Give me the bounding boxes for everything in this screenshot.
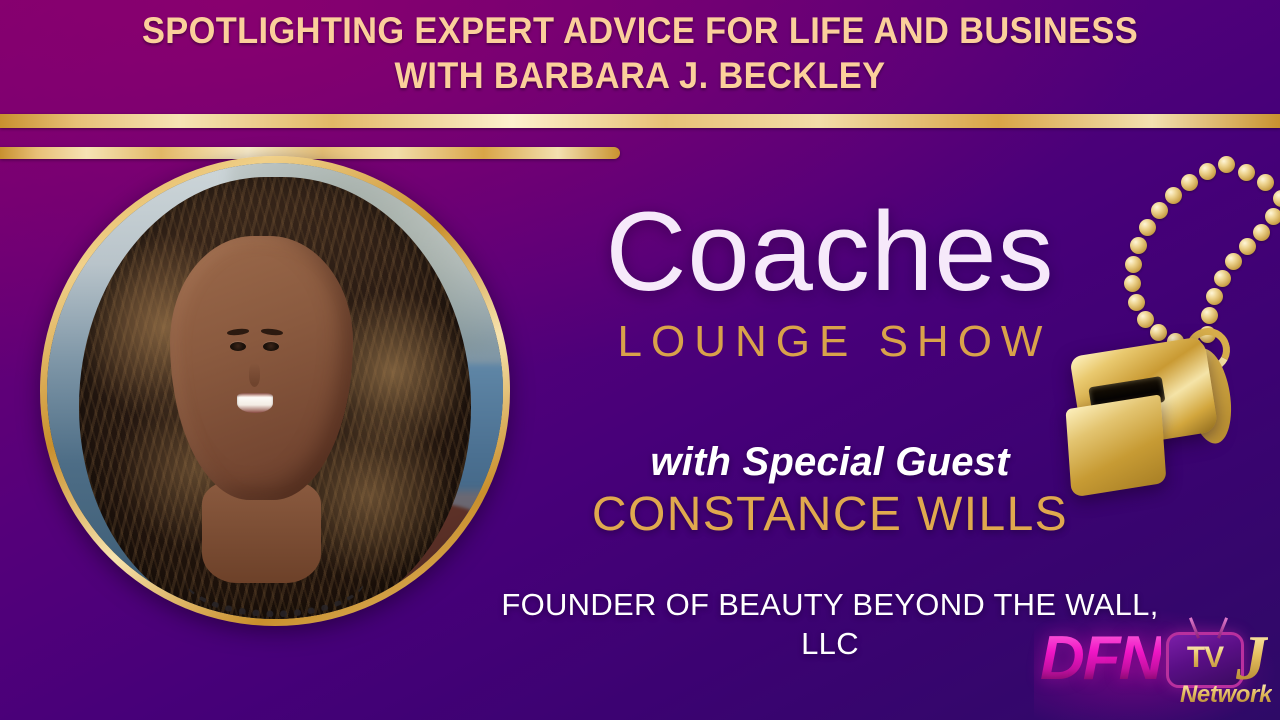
chain-bead: [1253, 224, 1270, 241]
guest-intro: with Special Guest: [520, 438, 1140, 486]
guest-block: with Special Guest CONSTANCE WILLS: [520, 438, 1140, 542]
chain-bead: [1150, 324, 1167, 341]
host-portrait-frame: [40, 156, 510, 626]
gold-divider-bar-primary: [0, 114, 1280, 128]
chain-bead: [1151, 202, 1168, 219]
chain-bead: [1214, 270, 1231, 287]
portrait-smile: [237, 393, 273, 413]
show-title-block: Coaches LOUNGE SHOW: [520, 196, 1140, 366]
portrait-nose: [249, 363, 261, 387]
show-title: Coaches: [520, 196, 1140, 308]
header-line-2: WITH BARBARA J. BECKLEY: [45, 53, 1235, 98]
whistle-loop: [1180, 322, 1235, 377]
dfn-tv-network-logo[interactable]: DFN TV J Network: [1040, 620, 1272, 712]
header-banner: SPOTLIGHTING EXPERT ADVICE FOR LIFE AND …: [0, 0, 1280, 108]
chain-bead: [1238, 164, 1255, 181]
guest-name: CONSTANCE WILLS: [520, 488, 1140, 542]
tv-label: TV: [1169, 642, 1241, 674]
chain-bead: [1139, 219, 1156, 236]
dfn-wordmark: DFN: [1040, 628, 1161, 690]
chain-bead: [1225, 253, 1242, 270]
chain-bead: [1201, 307, 1218, 324]
gold-divider-bar-secondary: [0, 147, 620, 159]
chain-bead: [1185, 338, 1202, 355]
portrait-face: [170, 236, 352, 500]
logo-network-word: Network: [1180, 682, 1272, 708]
promo-graphic: SPOTLIGHTING EXPERT ADVICE FOR LIFE AND …: [0, 0, 1280, 720]
chain-bead: [1181, 174, 1198, 191]
header-line-1: SPOTLIGHTING EXPERT ADVICE FOR LIFE AND …: [45, 8, 1235, 53]
chain-bead: [1199, 326, 1216, 343]
portrait-eye-right: [263, 342, 279, 351]
portrait-eye-left: [230, 342, 246, 351]
host-portrait-photo: [47, 163, 503, 619]
chain-bead: [1199, 163, 1216, 180]
chain-bead: [1239, 238, 1256, 255]
portrait-necklace: [184, 537, 366, 617]
whistle-barrel: [1181, 345, 1238, 446]
portrait-brow-left: [226, 327, 248, 335]
chain-bead: [1273, 190, 1280, 207]
tv-set-icon: TV: [1166, 632, 1244, 688]
chain-bead: [1206, 288, 1223, 305]
portrait-brow-right: [261, 327, 283, 335]
chain-bead: [1167, 333, 1184, 350]
show-subtitle: LOUNGE SHOW: [520, 318, 1140, 366]
chain-bead: [1265, 208, 1280, 225]
chain-bead: [1165, 187, 1182, 204]
chain-bead: [1218, 156, 1235, 173]
chain-bead: [1257, 174, 1274, 191]
